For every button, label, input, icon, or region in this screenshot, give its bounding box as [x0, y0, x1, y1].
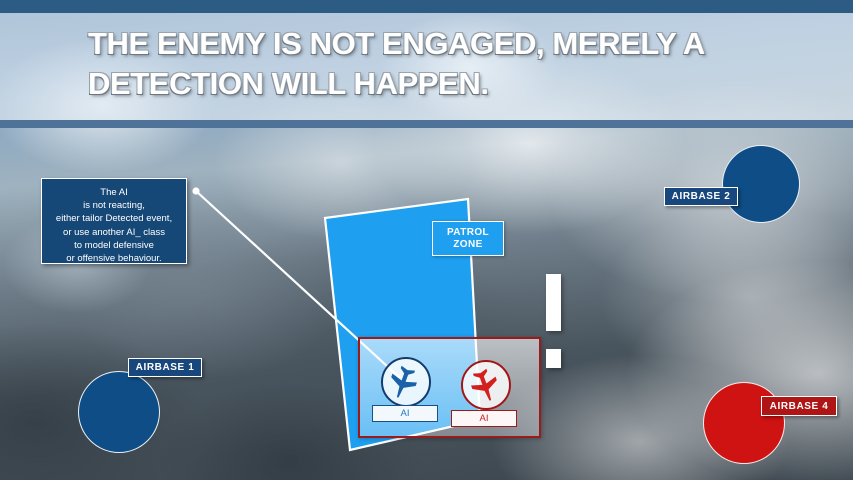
callout-line-5: to model defensive	[46, 239, 182, 252]
patrol-zone-line-1: PATROL	[447, 227, 489, 238]
airbase-1-marker	[78, 371, 160, 453]
patrol-zone-line-2: ZONE	[453, 239, 482, 250]
banner-top-strip	[0, 0, 853, 13]
airbase-4-marker	[703, 382, 785, 464]
slide-canvas: THE ENEMY IS NOT ENGAGED, MERELY A DETEC…	[0, 0, 853, 480]
callout-line-2: is not reacting,	[46, 199, 182, 212]
page-title: THE ENEMY IS NOT ENGAGED, MERELY A DETEC…	[88, 24, 808, 104]
airbase-4-label: AIRBASE 4	[761, 396, 837, 416]
enemy-ai-label[interactable]: AI	[451, 410, 517, 427]
airbase-2-marker	[722, 145, 800, 223]
callout-line-3: either tailor Detected event,	[46, 212, 182, 225]
airbase-1-label: AIRBASE 1	[128, 358, 202, 377]
title-line-1: THE ENEMY IS NOT ENGAGED, MERELY A	[88, 24, 808, 64]
banner-bottom-strip	[0, 120, 853, 128]
alert-exclamation-dot	[546, 349, 561, 368]
alert-exclamation-bar	[546, 274, 561, 331]
callout-line-1: The AI	[46, 186, 182, 199]
patrol-zone-label: PATROL ZONE	[432, 221, 504, 256]
enemy-aircraft-icon[interactable]	[461, 360, 511, 410]
callout-line-4: or use another AI_ class	[46, 226, 182, 239]
callout-line-6: or offensive behaviour.	[46, 252, 182, 265]
ai-info-callout: The AI is not reacting, either tailor De…	[41, 178, 187, 264]
friendly-aircraft-icon[interactable]	[381, 357, 431, 407]
airbase-2-label: AIRBASE 2	[664, 187, 738, 206]
friendly-ai-label[interactable]: AI	[372, 405, 438, 422]
title-line-2: DETECTION WILL HAPPEN.	[88, 64, 808, 104]
